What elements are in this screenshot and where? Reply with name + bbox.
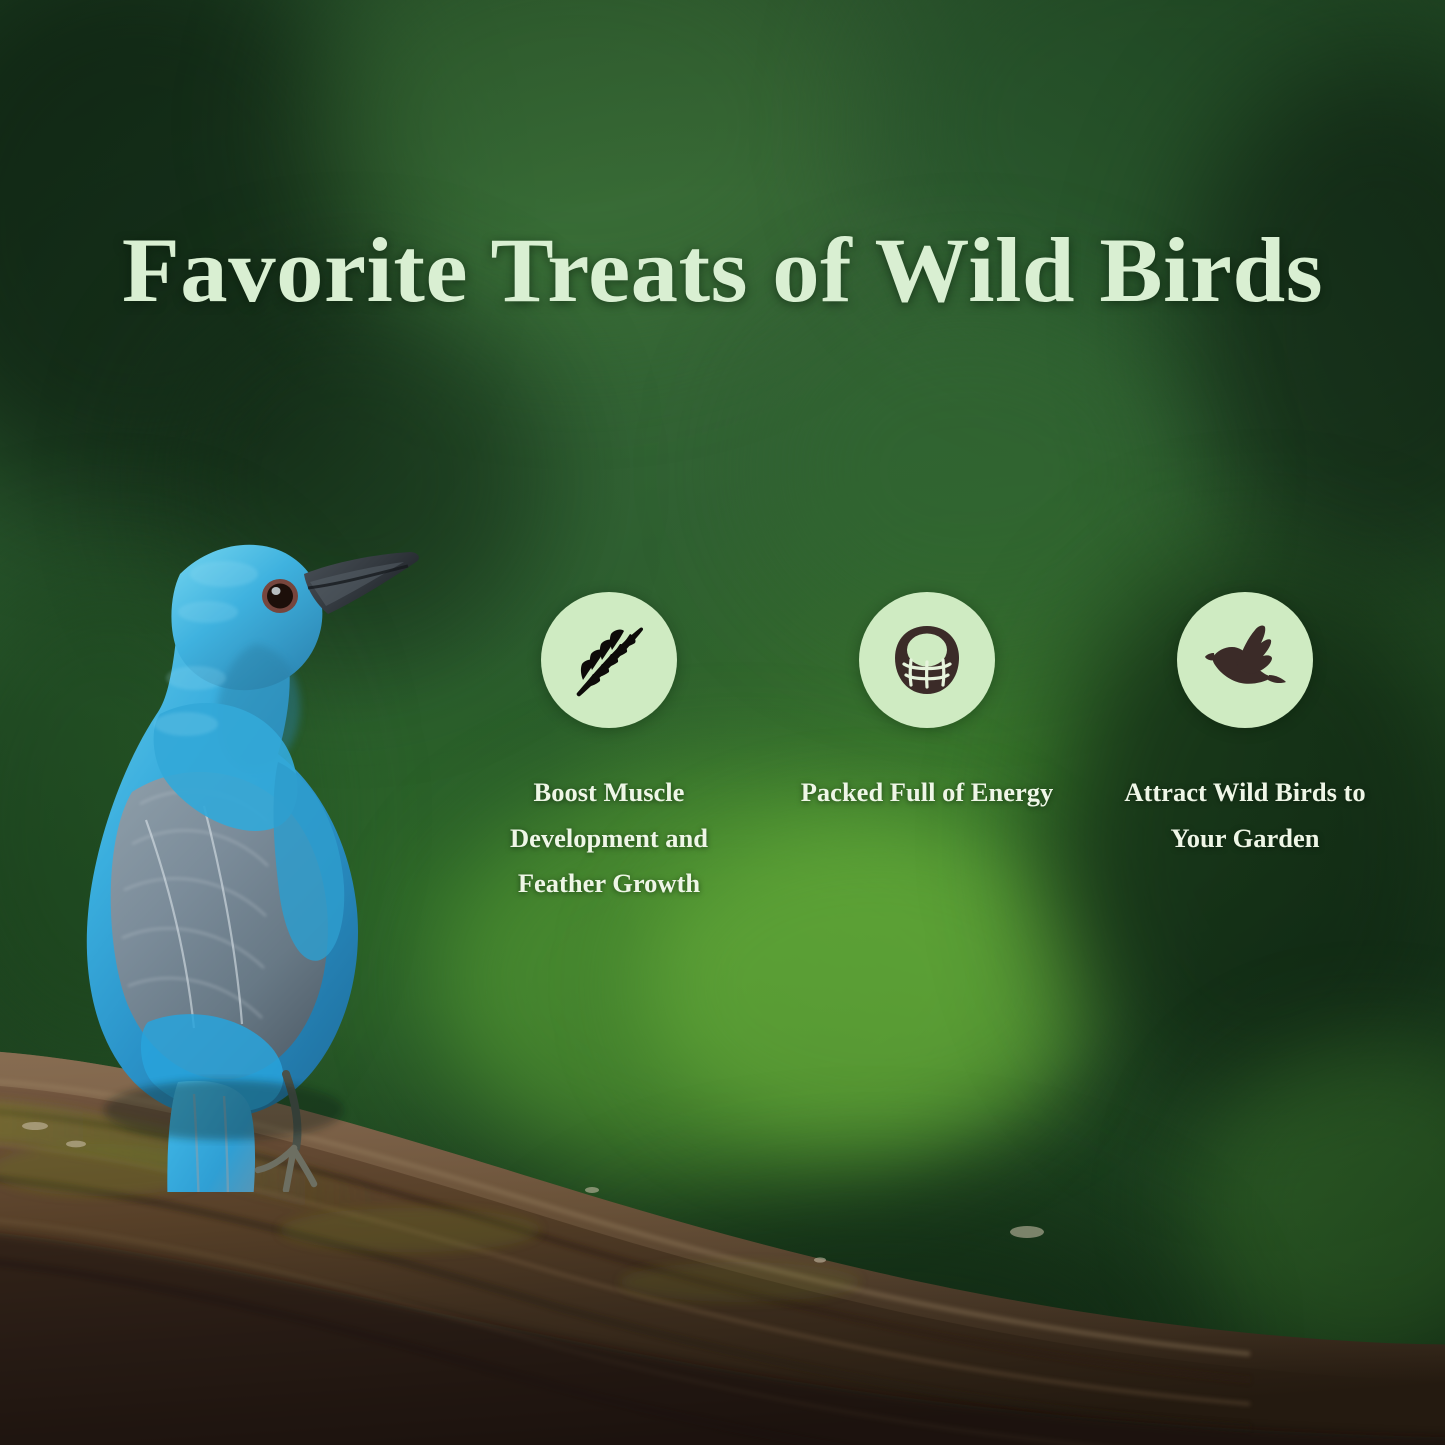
feather-icon: [568, 619, 650, 701]
seed-bowl-icon: [887, 620, 967, 700]
feature-row: Boost Muscle Development and Feather Gro…: [450, 592, 1410, 912]
feature-label: Boost Muscle Development and Feather Gro…: [474, 770, 744, 907]
feature-item-feather: Boost Muscle Development and Feather Gro…: [450, 592, 768, 907]
feature-label: Packed Full of Energy: [801, 770, 1053, 816]
blue-bird-photo-subject: [28, 462, 458, 1192]
feature-label: Attract Wild Birds to Your Garden: [1109, 770, 1381, 861]
flying-bird-icon: [1203, 621, 1287, 699]
marketing-banner: Favorite Treats of Wild Birds: [0, 0, 1445, 1445]
feature-icon-badge: [1177, 592, 1313, 728]
feature-item-attract: Attract Wild Birds to Your Garden: [1086, 592, 1404, 861]
feature-icon-badge: [859, 592, 995, 728]
feature-item-energy: Packed Full of Energy: [768, 592, 1086, 816]
page-title: Favorite Treats of Wild Birds: [0, 224, 1445, 316]
feature-icon-badge: [541, 592, 677, 728]
